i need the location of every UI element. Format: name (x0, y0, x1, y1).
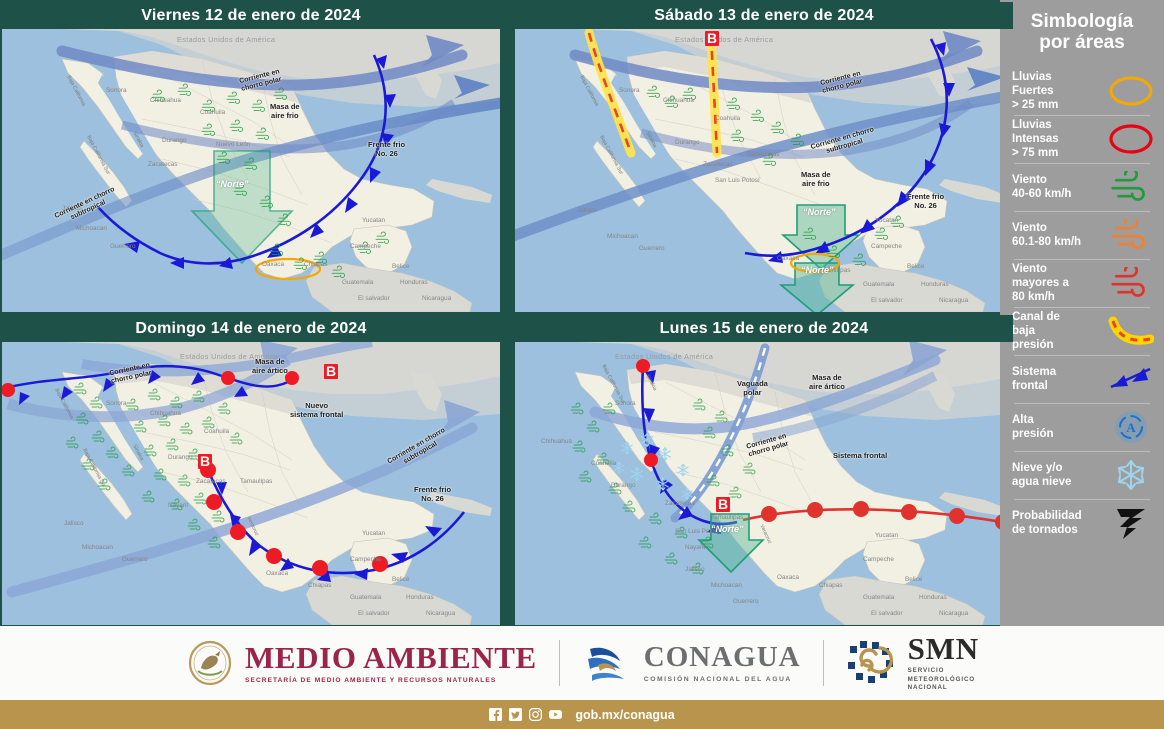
smn-icon (846, 638, 898, 688)
medio-ambiente-title: MEDIO AMBIENTE (245, 642, 537, 673)
legend-label: Nieve y/o agua nieve (1012, 461, 1106, 489)
ellipse-yellow-icon (1106, 70, 1156, 112)
map-panel-sabado[interactable]: Sábado 13 de enero de 2024 (515, 2, 1013, 312)
smn-subtitle: SERVICIO METEOROLÓGICO NACIONAL (908, 667, 979, 692)
twitter-icon[interactable] (509, 708, 522, 721)
snowflake-icon (1106, 454, 1156, 496)
legend-item-canal-baja-presion[interactable]: Canal de baja presión (1000, 307, 1164, 355)
map-graphic-domingo (2, 342, 500, 625)
legend-label: Sistema frontal (1012, 365, 1106, 393)
medio-ambiente-subtitle: SECRETARÍA DE MEDIO AMBIENTE Y RECURSOS … (245, 677, 537, 684)
conagua-subtitle: COMISIÓN NACIONAL DEL AGUA (644, 676, 801, 683)
legend-items-list: Lluvias Fuertes > 25 mm Lluvias Intensas… (1000, 67, 1164, 547)
map-graphic-lunes (515, 342, 1013, 625)
legend-item-viento-40-60[interactable]: Viento 40-60 km/h (1000, 163, 1164, 211)
panel-title-sabado: Sábado 13 de enero de 2024 (515, 2, 1013, 29)
svg-text:A: A (1126, 420, 1136, 435)
map-panel-domingo[interactable]: Domingo 14 de enero de 2024 (2, 315, 500, 625)
legend-item-viento-mayores-80[interactable]: Viento mayores a 80 km/h (1000, 259, 1164, 307)
facebook-icon[interactable] (489, 708, 502, 721)
logo-conagua: CONAGUA COMISIÓN NACIONAL DEL AGUA (582, 639, 801, 687)
wind-red-icon (1106, 262, 1156, 304)
map-panel-lunes[interactable]: Lunes 15 de enero de 2024 (515, 315, 1013, 625)
legend-label: Viento 60.1-80 km/h (1012, 221, 1106, 249)
maps-grid: Viernes 12 de enero de 2024 (0, 0, 1000, 626)
legend-item-lluvias-intensas[interactable]: Lluvias Intensas > 75 mm (1000, 115, 1164, 163)
tornado-icon (1106, 502, 1156, 544)
legend-label: Canal de baja presión (1012, 310, 1106, 352)
smn-title: SMN (908, 633, 979, 664)
logo-smn: SMN SERVICIO METEOROLÓGICO NACIONAL (846, 633, 979, 692)
conagua-icon (582, 639, 634, 687)
escudo-nacional-icon (185, 638, 235, 688)
legend-title: Simbología por áreas (1000, 0, 1164, 53)
website-url[interactable]: gob.mx/conagua (575, 708, 674, 722)
trough-central (711, 35, 717, 153)
map-graphic-viernes (2, 29, 500, 312)
legend-label: Probabilidad de tornados (1012, 509, 1106, 537)
legend-item-lluvias-fuertes[interactable]: Lluvias Fuertes > 25 mm (1000, 67, 1164, 115)
legend-label: Alta presión (1012, 413, 1106, 441)
legend-label: Viento mayores a 80 km/h (1012, 262, 1106, 304)
map-panel-viernes[interactable]: Viernes 12 de enero de 2024 (2, 2, 500, 312)
panel-body-domingo: Estados Unidos de América Sonora Chihuah… (2, 342, 500, 625)
low-pressure-marker-north: B (324, 364, 338, 379)
panel-body-sabado: Estados Unidos de América Sonora Chihuah… (515, 29, 1013, 312)
youtube-icon[interactable] (549, 708, 562, 721)
legend-item-nieve[interactable]: Nieve y/o agua nieve (1000, 451, 1164, 499)
legend-item-sistema-frontal[interactable]: Sistema frontal (1000, 355, 1164, 403)
low-pressure-marker-land: B (198, 454, 212, 469)
wind-green-icon (1106, 166, 1156, 208)
social-bar: gob.mx/conagua (0, 700, 1164, 729)
panel-body-viernes: Estados Unidos de América Sonora Chihuah… (2, 29, 500, 312)
low-pressure-marker: B (716, 497, 730, 512)
legend-panel: Simbología por áreas Lluvias Fuertes > 2… (1000, 0, 1164, 626)
cold-front-icon (1106, 358, 1156, 400)
logo-medio-ambiente: MEDIO AMBIENTE SECRETARÍA DE MEDIO AMBIE… (185, 638, 537, 688)
weather-forecast-infographic: Viernes 12 de enero de 2024 (0, 0, 1164, 729)
legend-label: Lluvias Intensas > 75 mm (1012, 118, 1106, 160)
footer-logos: MEDIO AMBIENTE SECRETARÍA DE MEDIO AMBIE… (0, 626, 1164, 700)
legend-item-alta-presion[interactable]: Alta presión A (1000, 403, 1164, 451)
high-pressure-icon: A (1106, 406, 1156, 448)
low-pressure-marker: B (705, 31, 719, 46)
wind-orange-icon (1106, 214, 1156, 256)
panel-title-viernes: Viernes 12 de enero de 2024 (2, 2, 500, 29)
panel-body-lunes: Estados Unidos de América Sonora Chihuah… (515, 342, 1013, 625)
legend-item-viento-60-80[interactable]: Viento 60.1-80 km/h (1000, 211, 1164, 259)
ellipse-red-icon (1106, 118, 1156, 160)
map-graphic-sabado (515, 29, 1013, 312)
legend-label: Lluvias Fuertes > 25 mm (1012, 70, 1106, 112)
legend-item-tornados[interactable]: Probabilidad de tornados (1000, 499, 1164, 547)
trough-yellow-icon (1106, 310, 1156, 352)
panel-title-lunes: Lunes 15 de enero de 2024 (515, 315, 1013, 342)
instagram-icon[interactable] (529, 708, 542, 721)
legend-label: Viento 40-60 km/h (1012, 173, 1106, 201)
panel-title-domingo: Domingo 14 de enero de 2024 (2, 315, 500, 342)
logo-divider-2 (823, 640, 824, 686)
logo-divider-1 (559, 640, 560, 686)
conagua-title: CONAGUA (644, 643, 801, 672)
